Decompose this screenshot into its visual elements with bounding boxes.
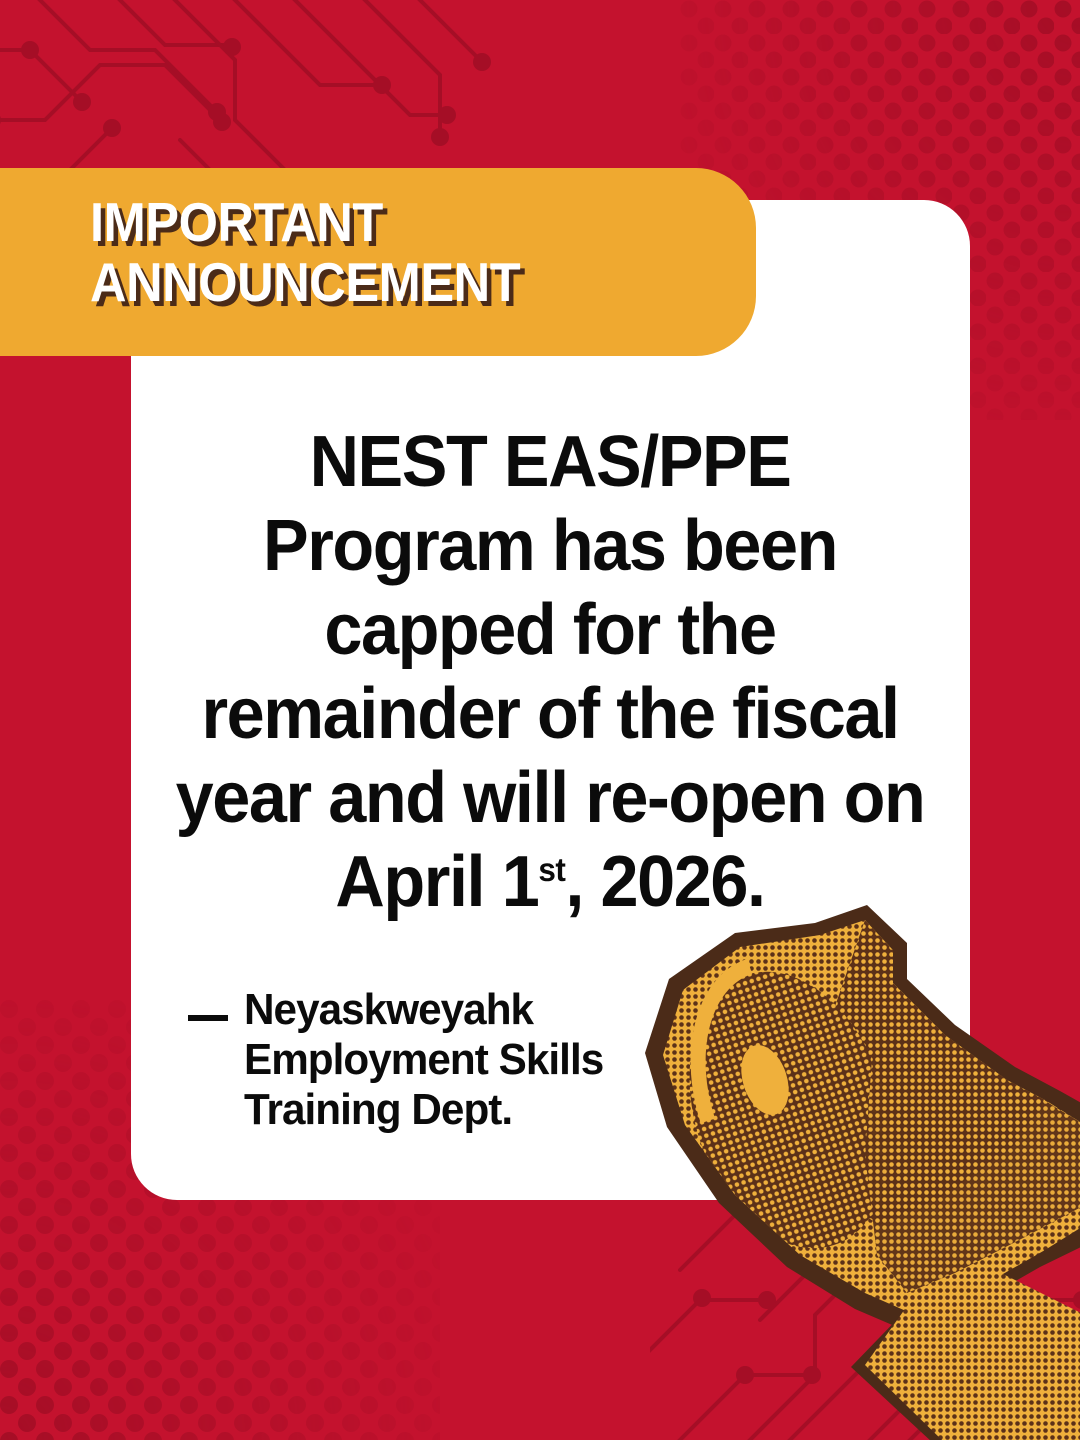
banner-title: IMPORTANT ANNOUNCEMENT bbox=[90, 192, 734, 312]
megaphone-icon bbox=[615, 895, 1080, 1440]
em-dash-icon bbox=[188, 1015, 228, 1021]
ordinal-suffix: st bbox=[538, 852, 565, 889]
attribution-department: Neyaskweyahk Employment Skills Training … bbox=[244, 985, 603, 1135]
announcement-poster: IMPORTANT ANNOUNCEMENT NEST EAS/PPE Prog… bbox=[0, 0, 1080, 1440]
announcement-message: NEST EAS/PPE Program has been capped for… bbox=[175, 420, 926, 924]
message-part-one: NEST EAS/PPE Program has been capped for… bbox=[176, 422, 925, 922]
